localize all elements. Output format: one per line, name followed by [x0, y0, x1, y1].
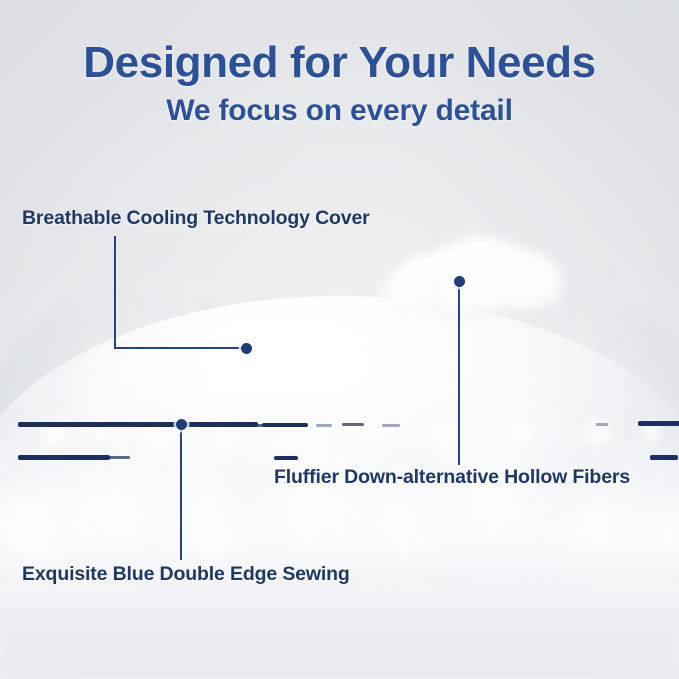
- page-subtitle: We focus on every detail: [0, 94, 679, 128]
- leader-line-cover-horizontal: [114, 347, 248, 349]
- stitch-segment: [638, 421, 679, 426]
- stitch-segment: [316, 424, 332, 427]
- stitch-segment: [18, 455, 110, 460]
- callout-label-cover: Breathable Cooling Technology Cover: [22, 207, 370, 230]
- page-title: Designed for Your Needs: [0, 38, 679, 88]
- stitch-segment: [342, 423, 364, 426]
- callout-label-sewing: Exquisite Blue Double Edge Sewing: [22, 563, 350, 586]
- stitch-segment: [274, 456, 298, 460]
- product-feature-infographic: Designed for Your Needs We focus on ever…: [0, 0, 679, 679]
- fiber-puff: [504, 264, 566, 310]
- leader-line-fibers: [458, 281, 460, 465]
- marker-dot-sewing: [176, 419, 187, 430]
- fiber-puff: [380, 272, 440, 314]
- stitch-segment: [650, 455, 678, 460]
- marker-dot-fibers: [454, 276, 465, 287]
- stitch-segment: [100, 456, 130, 459]
- stitch-segment: [262, 423, 308, 427]
- leader-line-cover-vertical: [114, 236, 116, 348]
- stitch-segment: [382, 424, 400, 427]
- marker-dot-cover: [241, 343, 252, 354]
- leader-line-sewing: [180, 425, 182, 560]
- callout-label-fibers: Fluffier Down-alternative Hollow Fibers: [274, 466, 630, 489]
- stitch-segment: [596, 423, 608, 426]
